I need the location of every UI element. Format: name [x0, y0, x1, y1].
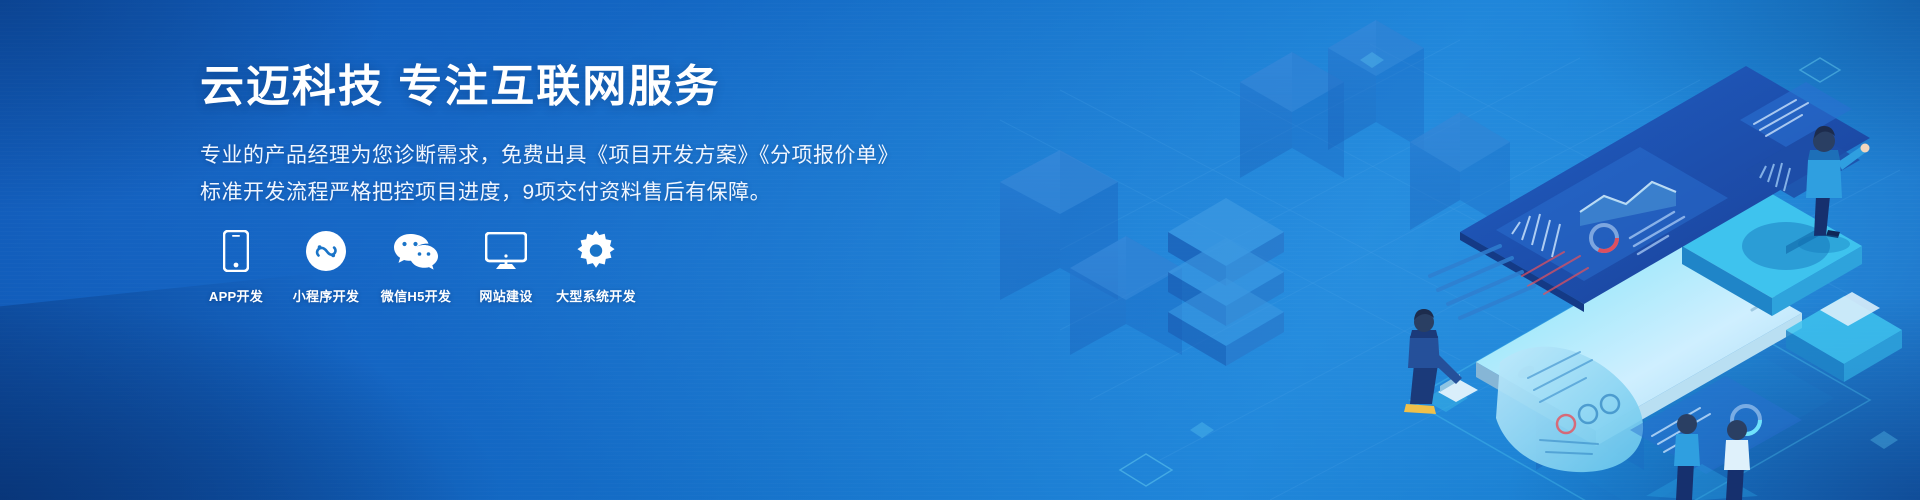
mobile-phone-icon	[223, 228, 249, 274]
gear-icon	[575, 228, 617, 274]
subtitle-line-1: 专业的产品经理为您诊断需求，免费出具《项目开发方案》《分项报价单》	[200, 138, 900, 173]
service-item-large-system[interactable]: 大型系统开发	[560, 228, 632, 305]
banner-content: 云迈科技 专注互联网服务 专业的产品经理为您诊断需求，免费出具《项目开发方案》《…	[200, 62, 900, 211]
wechat-miniprogram-icon	[305, 228, 347, 274]
service-label-app: APP开发	[209, 286, 263, 305]
wechat-icon	[393, 228, 439, 274]
service-item-website[interactable]: 网站建设	[470, 228, 542, 305]
service-icon-row: APP开发 小程序开发	[200, 228, 632, 305]
isometric-technology-illustration	[940, 0, 1920, 500]
service-item-wechat-h5[interactable]: 微信H5开发	[380, 228, 452, 305]
service-item-app[interactable]: APP开发	[200, 228, 272, 305]
service-label-large-system: 大型系统开发	[556, 286, 636, 305]
desktop-monitor-icon	[485, 228, 527, 274]
service-item-miniprogram[interactable]: 小程序开发	[290, 228, 362, 305]
sitting-person-laptop	[1404, 309, 1478, 414]
service-label-website: 网站建设	[479, 286, 532, 305]
service-label-miniprogram: 小程序开发	[293, 286, 360, 305]
server-stack	[1168, 198, 1284, 366]
side-pedestal	[1786, 292, 1902, 382]
hero-banner: 云迈科技 专注互联网服务 专业的产品经理为您诊断需求，免费出具《项目开发方案》《…	[0, 0, 1920, 500]
service-label-wechat-h5: 微信H5开发	[381, 286, 451, 305]
page-title: 云迈科技 专注互联网服务	[200, 62, 900, 112]
subtitle-line-2: 标准开发流程严格把控项目进度，9项交付资料售后有保障。	[200, 175, 900, 210]
